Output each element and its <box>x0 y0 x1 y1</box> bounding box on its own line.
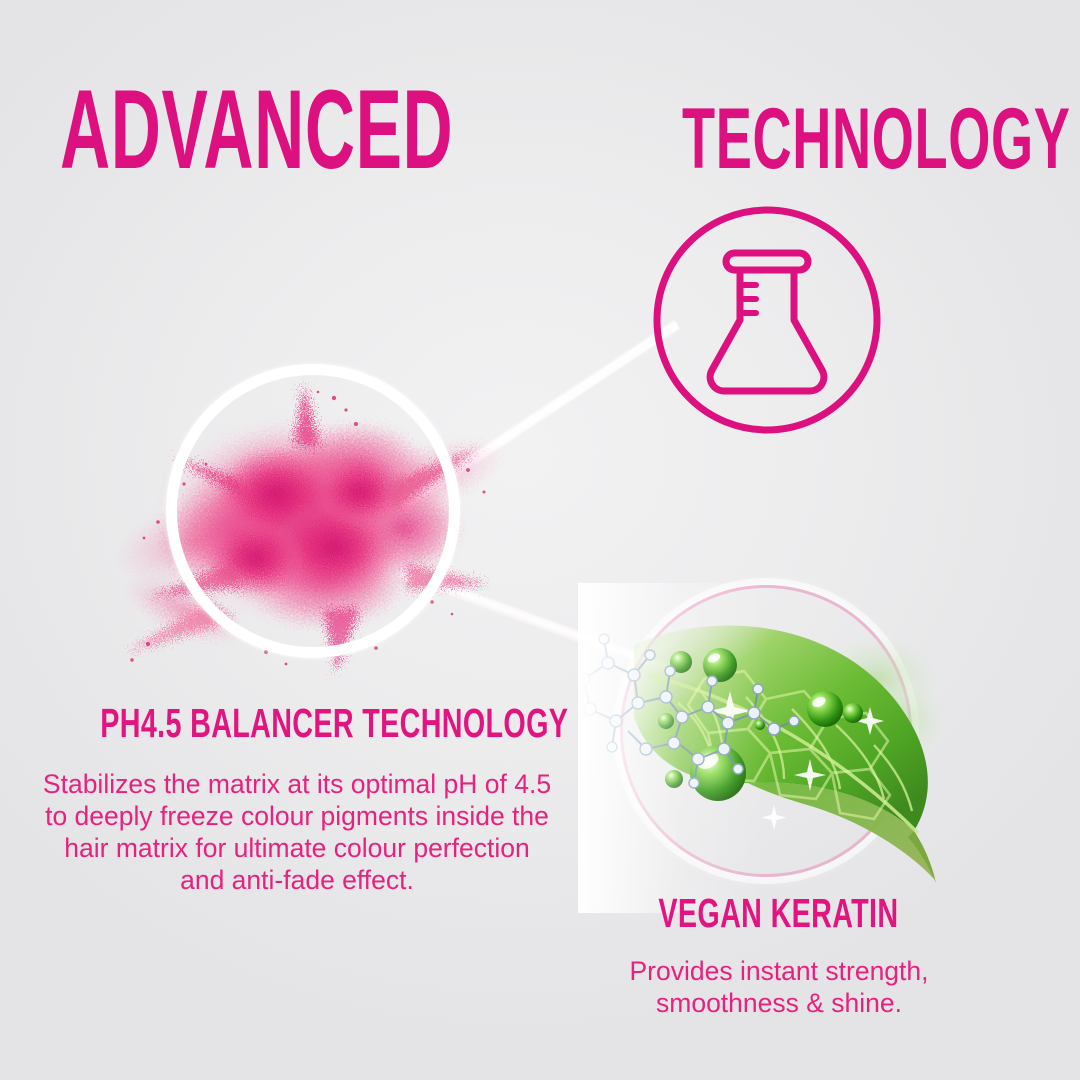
ph-balancer-heading: PH4.5 BALANCER TECHNOLOGY <box>0 703 590 744</box>
vk-body-line: Provides instant strength, <box>588 955 970 987</box>
vegan-keratin-body: Provides instant strength, smoothness & … <box>588 955 970 1019</box>
green-leaf-icon <box>578 583 978 913</box>
ph-balancer-visual <box>88 352 508 692</box>
vk-body-line: smoothness & shine. <box>588 987 970 1019</box>
ph-body-line: hair matrix for ultimate colour perfecti… <box>12 832 582 864</box>
advanced-technology-infographic: ADVANCEDTECHNOLOGY <box>0 0 1080 1080</box>
page-title: ADVANCEDTECHNOLOGY <box>60 74 1020 174</box>
powder-circle-ring <box>166 364 460 658</box>
title-word-advanced: ADVANCED <box>60 74 453 186</box>
ph-body-line: and anti-fade effect. <box>12 864 582 896</box>
ph-body-line: to deeply freeze colour pigments inside … <box>12 800 582 832</box>
title-word-technology: TECHNOLOGY <box>682 96 1071 182</box>
ph-balancer-body: Stabilizes the matrix at its optimal pH … <box>12 768 582 896</box>
vegan-keratin-visual <box>578 583 978 913</box>
ph-body-line: Stabilizes the matrix at its optimal pH … <box>12 768 582 800</box>
flask-icon <box>650 203 884 437</box>
vegan-keratin-heading: VEGAN KERATIN <box>590 893 966 934</box>
